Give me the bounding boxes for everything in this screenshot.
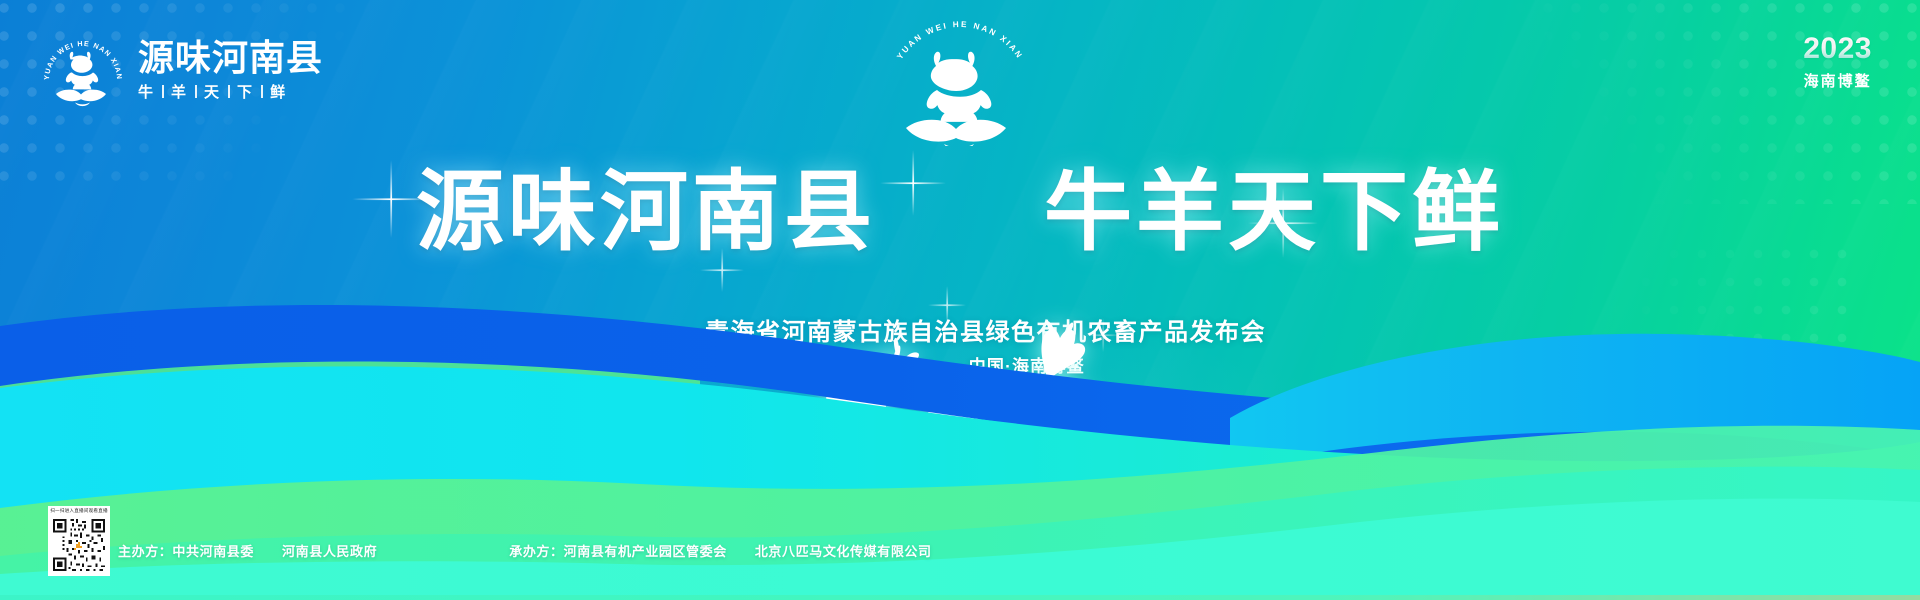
bottom-edge-strip (0, 595, 1920, 600)
slogan-char-4: 下 (237, 81, 254, 102)
slogan-char-5: 鲜 (270, 81, 287, 102)
year-block: 2023 海南博鳌 (1803, 34, 1872, 91)
slogan-char-3: 天 (204, 81, 221, 102)
yak-head-emblem-icon: YUAN WEI HE NAN XIAN (42, 32, 124, 110)
organizer-2: 北京八匹马文化传媒有限公司 (755, 541, 932, 560)
brand-name-cn: 源味河南县 (138, 40, 323, 76)
qr-block[interactable]: 扫一扫进入直播间观看直播 (48, 506, 110, 577)
qr-code[interactable] (48, 514, 110, 576)
yak-icon-shape (56, 52, 106, 106)
banner-stage: YUAN WEI HE NAN XIAN 源味河南县 牛 羊 天 下 鲜 (0, 0, 1920, 600)
center-emblem: YUAN WEI HE NAN XIAN (865, 18, 1055, 146)
headline-right: 牛羊天下鲜 (1044, 168, 1504, 256)
brand-slogan: 牛 羊 天 下 鲜 (138, 81, 323, 102)
emblem-arc-text: YUAN WEI HE NAN XIAN (895, 20, 1024, 61)
year-number: 2023 (1803, 34, 1872, 64)
qr-label: 扫一扫进入直播间观看直播 (48, 506, 110, 515)
brand-wordmark: 源味河南县 牛 羊 天 下 鲜 (138, 40, 323, 102)
yak-icon-shape (906, 52, 1006, 146)
logo-arc-text-svg: YUAN WEI HE NAN XIAN (42, 32, 124, 110)
brand-logo-left: YUAN WEI HE NAN XIAN 源味河南县 牛 羊 天 下 鲜 (42, 32, 323, 110)
slogan-char-2: 羊 (171, 81, 188, 102)
organizer-label: 承办方： (509, 541, 563, 560)
center-emblem-svg: YUAN WEI HE NAN XIAN (865, 18, 1055, 146)
slogan-divider (228, 85, 230, 98)
credits-bar: 主办方： 中共河南县委 河南县人民政府 承办方： 河南县有机产业园区管委会 北京… (118, 541, 932, 560)
host-1: 中共河南县委 (172, 541, 254, 560)
qr-code-svg (51, 517, 107, 573)
organizer-1: 河南县有机产业园区管委会 (564, 541, 727, 560)
slogan-divider (195, 85, 197, 98)
slogan-char-1: 牛 (138, 81, 155, 102)
slogan-divider (261, 85, 263, 98)
host-2: 河南县人民政府 (282, 541, 377, 560)
slogan-divider (162, 85, 164, 98)
host-label: 主办方： (118, 541, 172, 560)
year-place: 海南博鳌 (1803, 70, 1872, 91)
headline-left: 源味河南县 (416, 168, 876, 256)
main-headline: 源味河南县 牛羊天下鲜 (0, 168, 1920, 256)
